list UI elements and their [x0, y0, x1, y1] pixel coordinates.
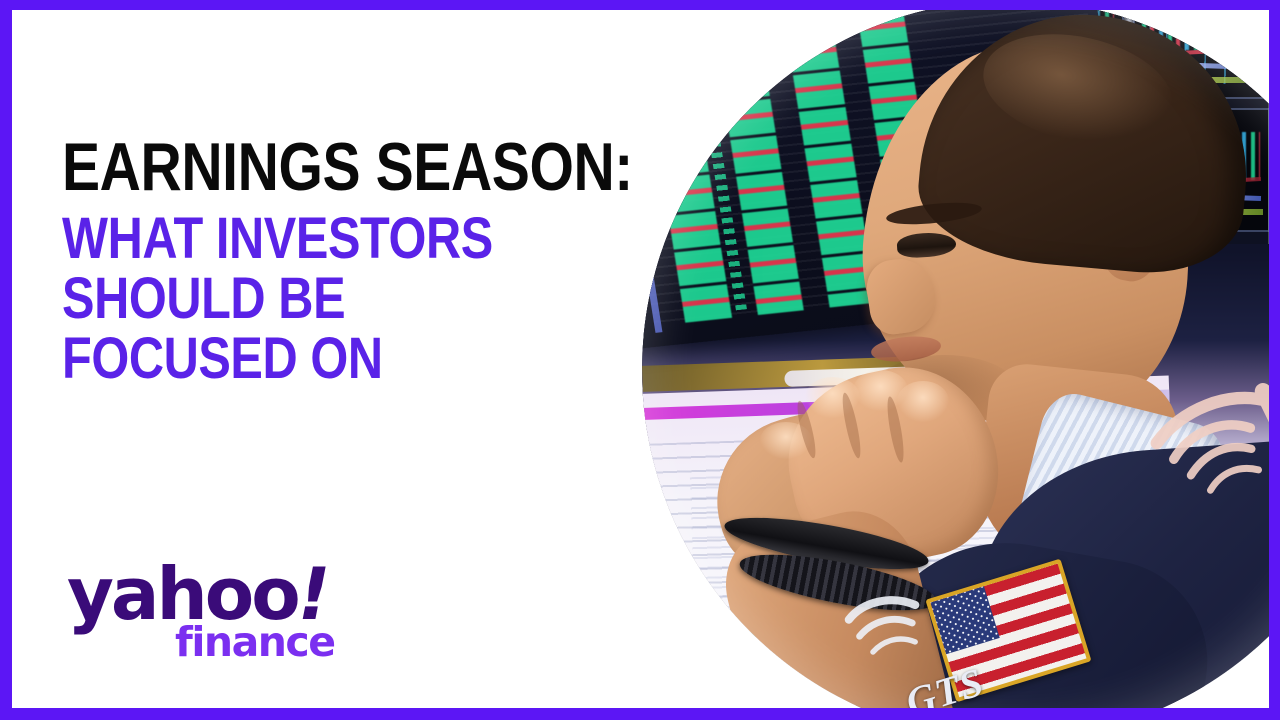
trader-photo-circle: GTS [642, 10, 1269, 708]
headline-line-1: EARNINGS SEASON: [62, 135, 566, 201]
frame-border-top [0, 0, 1280, 10]
knuckle [897, 381, 949, 422]
trader-figure: GTS [642, 10, 1269, 708]
yahoo-finance-logo: yahoo! finance [67, 564, 335, 663]
finance-wordmark: finance [175, 622, 335, 663]
photo-inner: GTS [642, 10, 1269, 708]
headline-line-4: FOCUSED ON [62, 331, 566, 387]
flag-canton [930, 586, 999, 654]
content-plate: GTS EARNINGS SEASON: WHAT INVESTORS SHOU… [12, 10, 1269, 708]
yahoo-wordmark: yahoo! [67, 564, 335, 626]
frame-border-bottom [0, 708, 1280, 720]
headline-line-3: SHOULD BE [62, 271, 566, 327]
headline-block: EARNINGS SEASON: WHAT INVESTORS SHOULD B… [62, 135, 662, 392]
frame-border-left [0, 0, 12, 720]
headline-line-2: WHAT INVESTORS [62, 211, 566, 267]
video-thumbnail: GTS EARNINGS SEASON: WHAT INVESTORS SHOU… [0, 0, 1280, 720]
frame-border-right [1269, 0, 1280, 720]
